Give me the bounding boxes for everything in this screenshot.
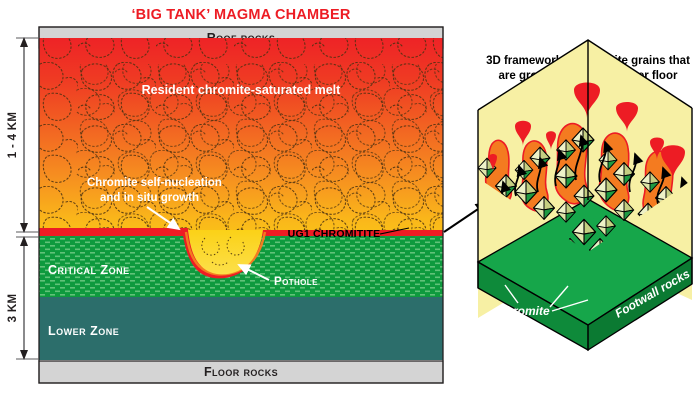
magma-chamber-panel: Roof rocks Resident chromite-saturated m… (7, 27, 480, 383)
layer-resident-melt-label: Resident chromite-saturated melt (142, 83, 341, 97)
figure-title: ‘BIG TANK’ MAGMA CHAMBER (131, 7, 350, 23)
annotation-pothole-label: Pothole (274, 276, 318, 288)
annotation-self-nucleation-line1: Chromite self-nucleation (87, 177, 222, 189)
scale-bar-lower-label: 3 KM (7, 294, 19, 323)
figure-svg: ‘BIG TANK’ MAGMA CHAMBER Roof rocks Resi… (0, 0, 700, 403)
layer-floor-rocks-label: Floor rocks (204, 365, 278, 379)
label-chromite-text: Chromite (497, 304, 550, 318)
layer-ug1-chromitite-label: UG1 CHROMITITE (288, 228, 381, 240)
layer-critical-zone-label: Critical Zone (48, 263, 130, 277)
layer-lower-zone-label: Lower Zone (48, 324, 119, 338)
layer-lower-zone: Lower Zone (39, 297, 443, 360)
figure-root: ‘BIG TANK’ MAGMA CHAMBER Roof rocks Resi… (0, 0, 700, 403)
scale-bar-upper-label: 1 - 4 KM (7, 112, 19, 159)
layer-floor-rocks: Floor rocks (39, 361, 443, 383)
annotation-self-nucleation-line2: and in situ growth (100, 192, 199, 204)
